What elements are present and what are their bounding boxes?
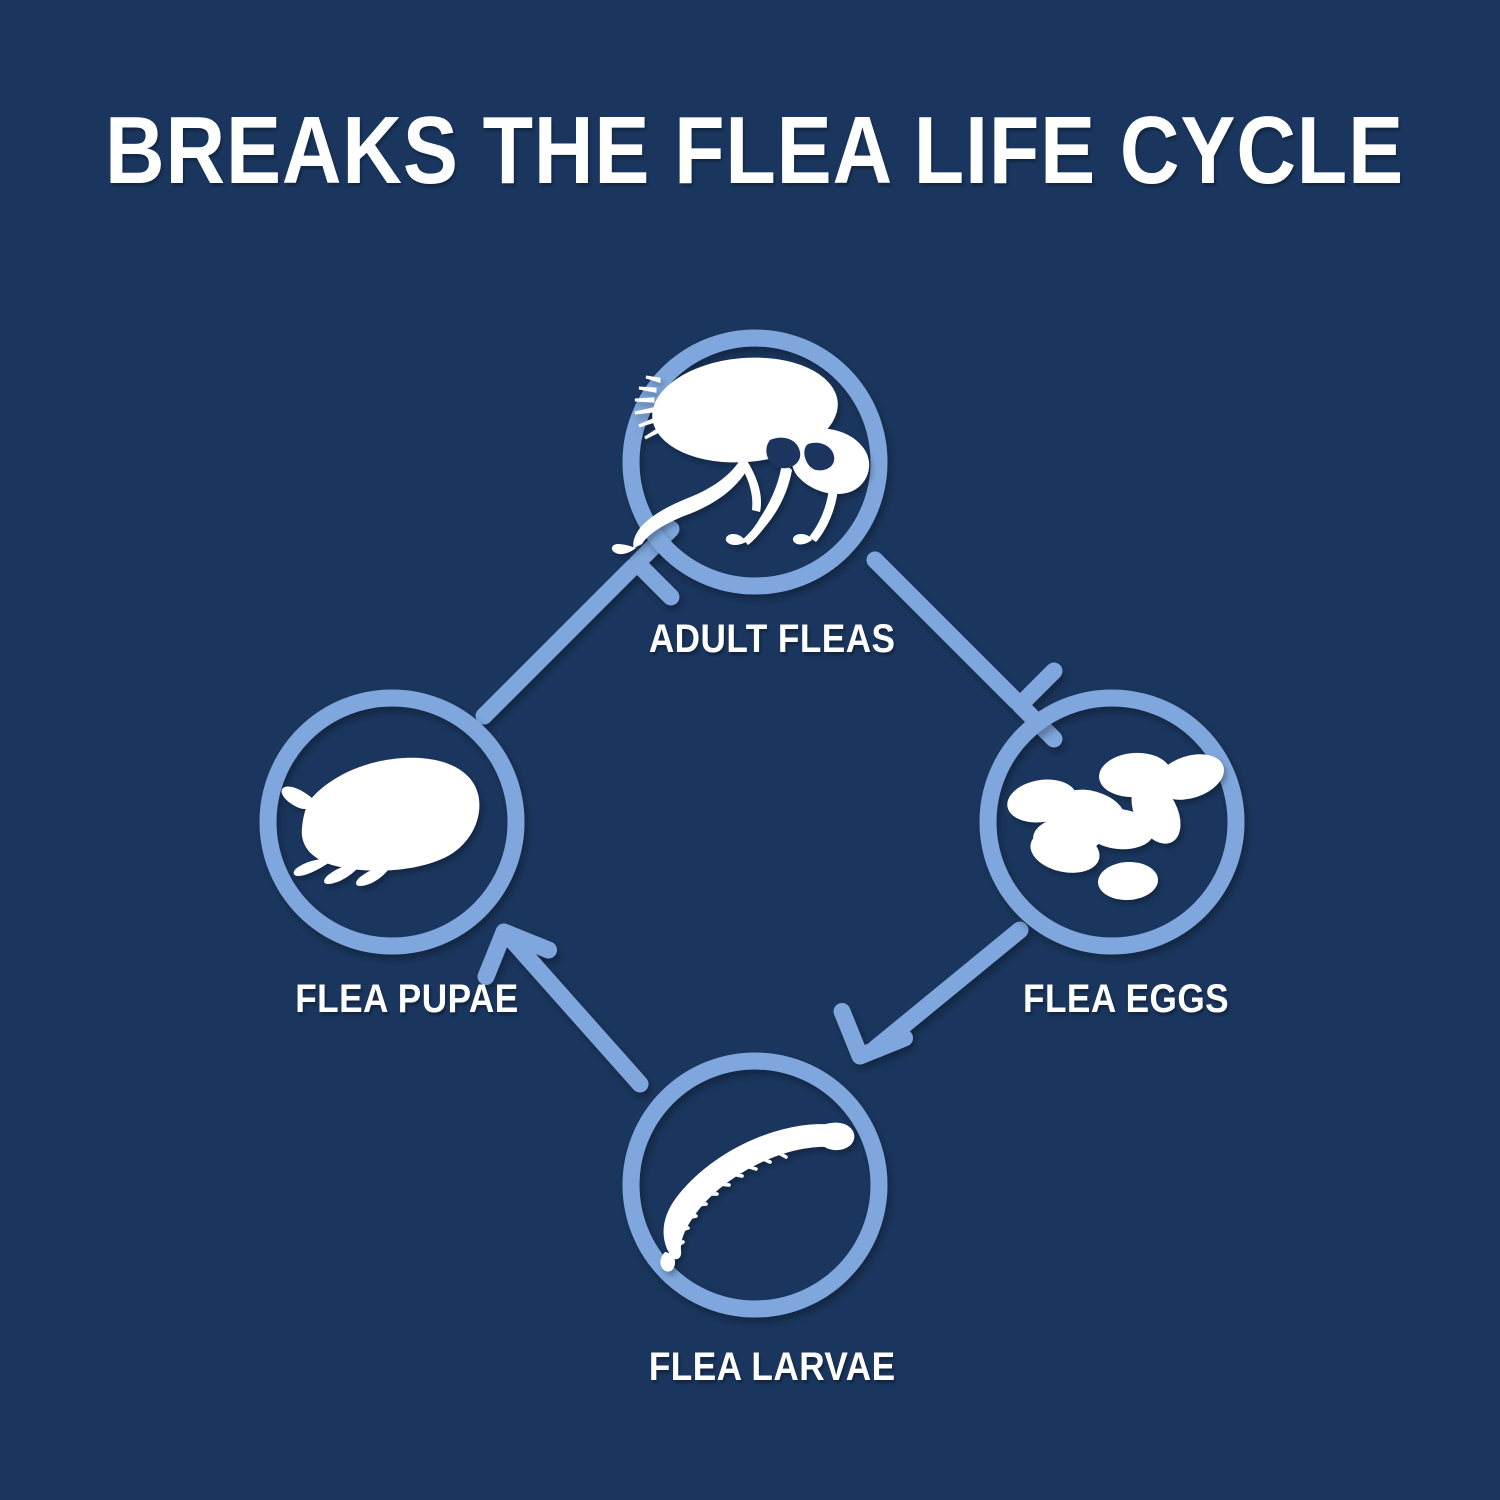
- flea-larvae-ring: [631, 1061, 879, 1309]
- node-label-flea-pupae: FLEA PUPAE: [296, 977, 519, 1022]
- node-label-flea-larvae: FLEA LARVAE: [648, 1345, 895, 1390]
- node-label-adult-fleas: ADULT FLEAS: [648, 617, 895, 662]
- node-flea-eggs[interactable]: [988, 698, 1236, 946]
- flea-life-cycle-infographic: BREAKS THE FLEA LIFE CYCLE: [0, 0, 1500, 1500]
- arrow-shaft: [876, 930, 1020, 1048]
- node-flea-pupae[interactable]: [268, 698, 516, 946]
- cycle-diagram: [0, 0, 1500, 1500]
- flea-pupa-icon: [282, 758, 480, 886]
- arrow-shaft: [875, 560, 1016, 701]
- node-flea-larvae[interactable]: [631, 1061, 879, 1309]
- arrow-shaft: [512, 940, 640, 1084]
- arrow-eggs-to-larvae: [842, 930, 1020, 1056]
- arrow-shaft: [484, 567, 633, 716]
- flea-eggs-icon: [1004, 746, 1230, 901]
- node-label-flea-eggs: FLEA EGGS: [1023, 977, 1229, 1022]
- flea-larva-icon: [660, 1123, 854, 1272]
